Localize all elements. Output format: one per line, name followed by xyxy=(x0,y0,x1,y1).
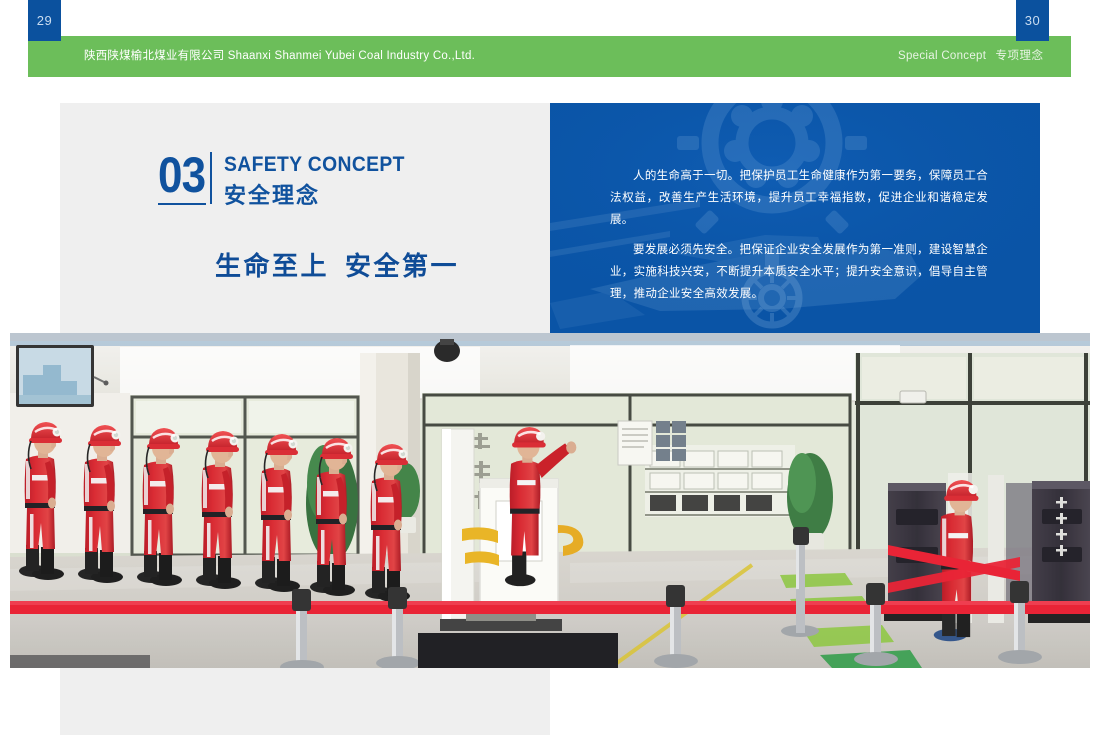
page-number-right: 30 xyxy=(1025,13,1040,28)
slogan-part-1: 生命至上 xyxy=(215,251,329,281)
section-label-cn: 专项理念 xyxy=(995,50,1043,62)
concept-text-panel: 人的生命高于一切。把保护员工生命健康作为第一要务，保障员工合法权益，改善生产生活… xyxy=(550,103,1040,336)
company-name-en: Shaanxi Shanmei Yubei Coal Industry Co.,… xyxy=(228,50,475,62)
company-name: 陕西陕煤榆北煤业有限公司 Shaanxi Shanmei Yubei Coal … xyxy=(84,49,475,63)
company-name-cn: 陕西陕煤榆北煤业有限公司 xyxy=(84,50,224,62)
section-label-en: Special Concept xyxy=(898,50,986,62)
section-number-underline xyxy=(158,203,206,205)
section-heading: 03 SAFETY CONCEPT 安全理念 xyxy=(158,150,488,230)
section-divider-rule xyxy=(210,152,212,204)
photo-illustration xyxy=(10,333,1090,668)
page-number-badge-right: 30 xyxy=(1016,0,1049,41)
concept-text-body: 人的生命高于一切。把保护员工生命健康作为第一要务，保障员工合法权益，改善生产生活… xyxy=(610,165,988,313)
section-label: Special Concept 专项理念 xyxy=(898,49,1043,63)
safety-checkpoint-photo xyxy=(10,333,1090,668)
section-title-cn: 安全理念 xyxy=(224,183,320,209)
concept-paragraph-2: 要发展必须先安全。把保证企业安全发展作为第一准则，建设智慧企业，实施科技兴安，不… xyxy=(610,239,988,305)
concept-paragraph-1: 人的生命高于一切。把保护员工生命健康作为第一要务，保障员工合法权益，改善生产生活… xyxy=(610,165,988,231)
page-number-left: 29 xyxy=(37,13,52,28)
slogan-part-2: 安全第一 xyxy=(345,251,459,281)
section-number: 03 xyxy=(158,150,205,200)
safety-slogan: 生命至上安全第一 xyxy=(215,250,459,282)
page-number-badge-left: 29 xyxy=(28,0,61,41)
section-title-en: SAFETY CONCEPT xyxy=(224,154,405,176)
